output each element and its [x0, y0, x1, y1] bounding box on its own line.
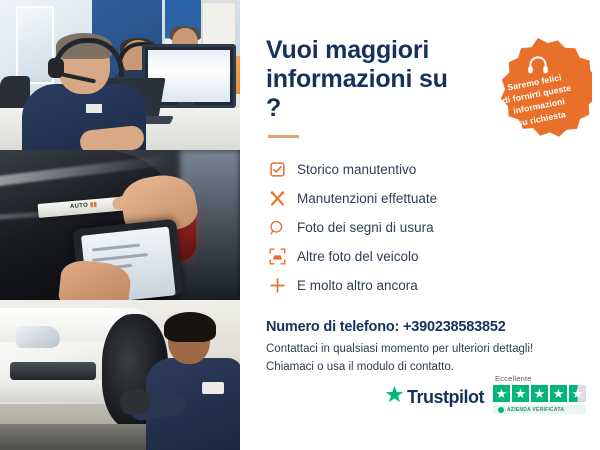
star-2: ★	[512, 385, 529, 402]
feature-list: Storico manutentivo Manutenzioni effettu…	[266, 156, 576, 299]
star-3: ★	[531, 385, 548, 402]
star-rating: ★ ★ ★ ★ ★	[493, 385, 586, 402]
feature-item-altre-foto: Altre foto del veicolo	[266, 243, 576, 270]
call-center-photo	[0, 0, 240, 150]
workshop-photo	[0, 300, 240, 450]
callout-badge: Saremo felici di fornirti queste informa…	[484, 38, 592, 146]
feature-item-manutenzioni: Manutenzioni effettuate	[266, 185, 576, 212]
advertisement-banner: AUTO ▮▮	[0, 0, 600, 450]
magnifier-icon	[266, 220, 288, 236]
crossed-tools-icon	[266, 190, 288, 207]
star-4: ★	[550, 385, 567, 402]
verified-business-badge: AZIENDA VERIFICATA	[493, 405, 586, 414]
car-frame-icon	[266, 248, 288, 265]
feature-label: Storico manutentivo	[297, 162, 416, 177]
verified-label: AZIENDA VERIFICATA	[507, 407, 564, 413]
phone-number-line[interactable]: Numero di telefono: +390238583852	[266, 319, 576, 335]
trustpilot-logo: Trustpilot	[385, 385, 484, 414]
feature-item-storico: Storico manutentivo	[266, 156, 576, 183]
trustpilot-widget[interactable]: Trustpilot Eccellente ★ ★ ★ ★ ★ AZIENDA …	[385, 374, 586, 414]
feature-label: E molto altro ancora	[297, 278, 418, 293]
feature-label: Altre foto del veicolo	[297, 249, 419, 264]
headlight-shape	[16, 326, 60, 348]
contact-line-1: Contattaci in qualsiasi momento per ulte…	[266, 341, 576, 359]
title-underline-rule	[268, 135, 299, 138]
star-1: ★	[493, 385, 510, 402]
verified-check-icon	[498, 407, 504, 413]
feature-label: Manutenzioni effettuate	[297, 191, 437, 206]
checkbox-checked-icon	[266, 162, 288, 177]
vehicle-inspection-photo: AUTO ▮▮	[0, 150, 240, 300]
feature-item-foto-usura: Foto dei segni di usura	[266, 214, 576, 241]
vehicle-lift-shape	[0, 424, 150, 450]
mechanic-person	[146, 316, 240, 450]
rating-label: Eccellente	[493, 374, 532, 383]
plus-icon	[266, 277, 288, 294]
front-grille-shape	[10, 362, 96, 380]
trustpilot-rating: Eccellente ★ ★ ★ ★ ★ AZIENDA VERIFICATA	[493, 374, 586, 414]
trustpilot-name: Trustpilot	[407, 387, 484, 408]
star-5-half: ★	[569, 385, 586, 402]
content-panel: Vuoi maggiori informazioni su ? Storico …	[240, 0, 600, 450]
feature-item-altro: E molto altro ancora	[266, 272, 576, 299]
contact-instructions: Contattaci in qualsiasi momento per ulte…	[266, 341, 576, 377]
photo-column: AUTO ▮▮	[0, 0, 240, 450]
feature-label: Foto dei segni di usura	[297, 220, 434, 235]
trustpilot-star-icon	[385, 385, 404, 409]
page-title: Vuoi maggiori informazioni su ?	[266, 36, 466, 123]
foreground-agent	[22, 36, 142, 150]
